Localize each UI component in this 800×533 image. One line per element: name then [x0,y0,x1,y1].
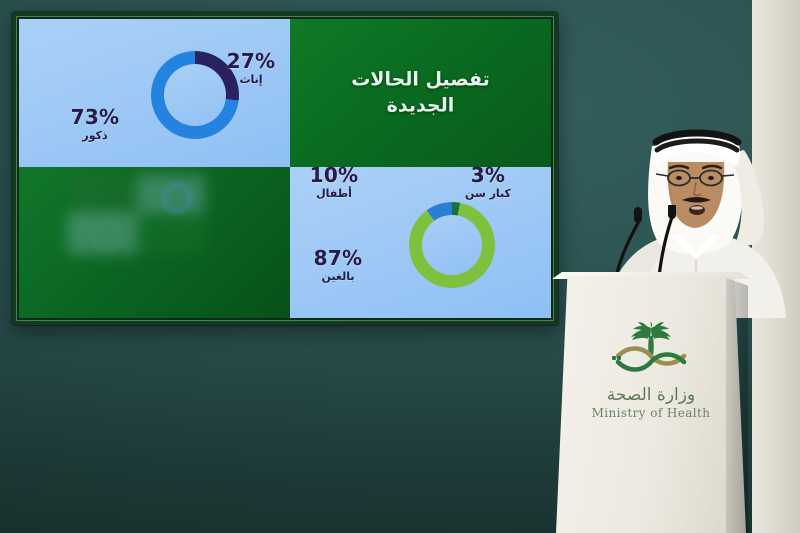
title-panel: تفصيل الحالات الجديدة [290,19,551,167]
age-donut-ring [409,202,495,288]
logo-english-text: Ministry of Health [576,406,726,420]
children-caption: أطفال [296,188,372,199]
label-elderly: 3% كبار سن [452,165,524,199]
adults-percent: 87% [300,248,376,268]
reflection-ring [162,183,192,213]
elderly-caption: كبار سن [452,188,524,199]
label-adults: 87% بالغين [300,248,376,282]
reflection-ring [91,221,121,251]
slide-title-line1: تفصيل الحالات [351,68,490,90]
slide-title: تفصيل الحالات الجديدة [290,67,551,118]
female-caption: إناث [215,74,287,85]
logo-arabic-text: وزارة الصحة [576,385,726,405]
palm-tree-swords-emblem [576,322,726,384]
children-percent: 10% [296,165,372,185]
ministry-of-health-logo: وزارة الصحة Ministry of Health [576,322,726,420]
age-distribution-donut [409,202,495,288]
microphone-head [634,207,642,223]
adults-caption: بالغين [300,271,376,282]
reflection-blob [139,212,205,254]
microphone-head [668,205,676,219]
female-percent: 27% [215,51,287,71]
label-male: 73% ذكور [59,107,131,141]
label-female: 27% إناث [215,51,287,85]
male-percent: 73% [59,107,131,127]
male-caption: ذكور [59,130,131,141]
elderly-percent: 3% [452,165,524,185]
screenshot-stage: 27% إناث 73% ذكور تفصيل الحالات الجديدة [0,0,800,533]
slide-title-line2: الجديدة [387,94,455,116]
blank-green-panel [19,167,290,318]
label-children: 10% أطفال [296,165,372,199]
podium-side-shadow [726,278,748,533]
reflection-blob [71,175,137,215]
gender-chart-panel: 27% إناث 73% ذكور [19,19,290,167]
